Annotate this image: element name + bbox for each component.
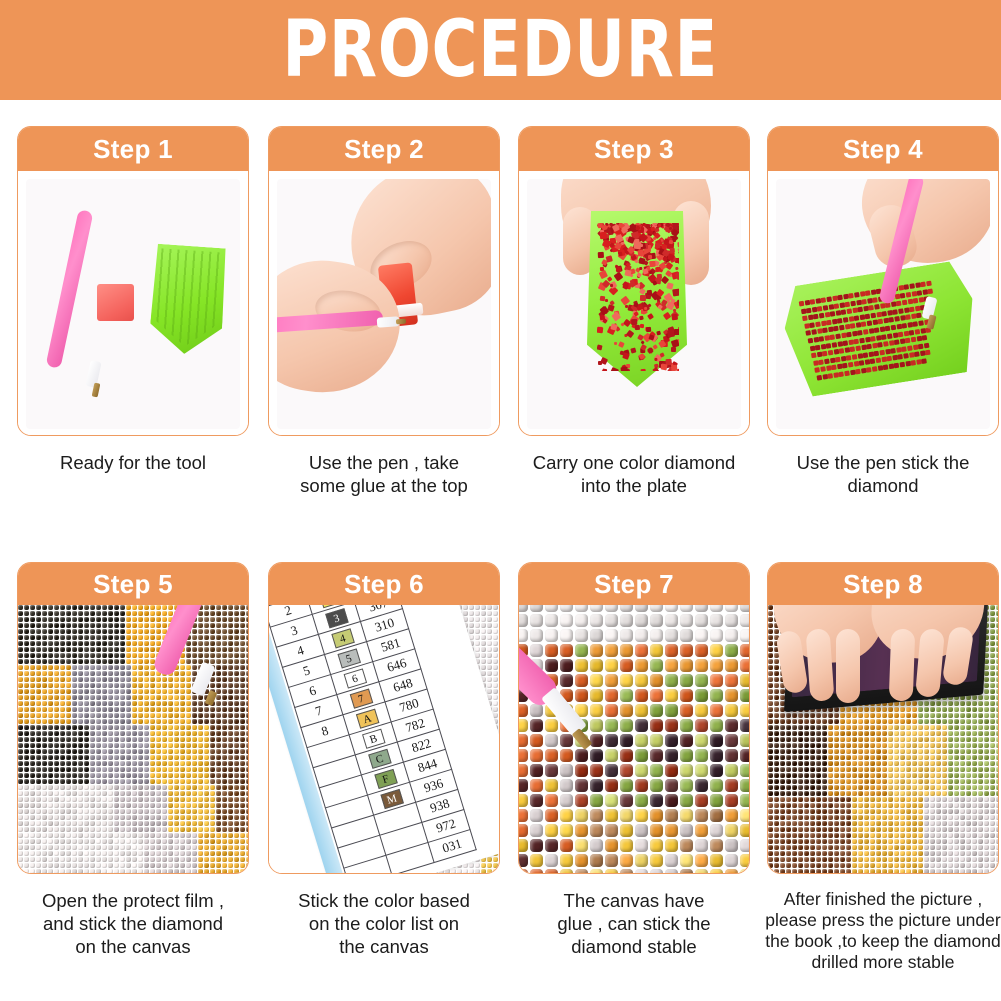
step-block-6: Step 6 SerialSymbolD — [268, 562, 500, 958]
finger-3-icon — [836, 629, 860, 703]
step-card-6: Step 6 SerialSymbolD — [268, 562, 500, 874]
step-caption-7: The canvas have glue , can stick the dia… — [518, 889, 750, 958]
steps-grid: Step 1 — [0, 100, 1001, 1001]
mosaic-canvas-icon — [18, 605, 248, 874]
step-title-3: Step 3 — [519, 127, 749, 171]
step-block-7: Step 7 The canvas have glue , can stick … — [518, 562, 750, 958]
step-caption-2: Use the pen , take some glue at the top — [268, 451, 500, 497]
step-block-5: Step 5 Open the protect film , and stick… — [17, 562, 249, 958]
finger-2-icon — [806, 628, 835, 701]
step-card-7: Step 7 — [518, 562, 750, 874]
green-tray-icon — [148, 244, 227, 357]
finger-4-icon — [889, 629, 915, 702]
green-tray-icon — [778, 259, 983, 399]
step-card-5: Step 5 — [17, 562, 249, 874]
step-card-4: Step 4 — [767, 126, 999, 436]
step-title-7: Step 7 — [519, 563, 749, 605]
step-block-8: Step 8 — [767, 562, 999, 973]
color-code-sheet: SerialSymbolDMC1122300333074431055581666… — [269, 605, 499, 874]
step-photo-3 — [519, 171, 749, 436]
step-title-2: Step 2 — [269, 127, 499, 171]
pink-pen-icon — [46, 209, 94, 369]
step-block-4: Step 4 — [767, 126, 999, 497]
step-card-3: Step 3 — [518, 126, 750, 436]
pen-metal-tip-icon — [396, 319, 406, 325]
scene-tools — [26, 179, 240, 429]
pink-wax-square-icon — [97, 284, 134, 321]
step-caption-8: After finished the picture , please pres… — [749, 889, 1001, 973]
step-photo-7 — [519, 605, 749, 874]
page-title: PROCEDURE — [283, 10, 719, 90]
step-caption-1: Ready for the tool — [17, 451, 249, 474]
step-photo-1 — [18, 171, 248, 436]
step-card-2: Step 2 — [268, 126, 500, 436]
step-caption-6: Stick the color based on the color list … — [268, 889, 500, 958]
step-caption-4: Use the pen stick the diamond — [767, 451, 999, 497]
scene-bead-rows — [519, 605, 749, 874]
steps-row-bottom: Step 5 Open the protect film , and stick… — [0, 562, 1001, 1001]
step-title-5: Step 5 — [18, 563, 248, 605]
step-block-2: Step 2 — [268, 126, 500, 497]
step-caption-3: Carry one color diamond into the plate — [518, 451, 750, 497]
step-photo-8 — [768, 605, 998, 874]
steps-row-top: Step 1 — [0, 126, 1001, 546]
step-photo-4 — [768, 171, 998, 436]
red-diamonds-pile-icon — [597, 223, 679, 371]
pen-metal-tip-icon — [92, 383, 101, 398]
procedure-infographic: PROCEDURE Step 1 — [0, 0, 1001, 1001]
step-block-3: Step 3 — [518, 126, 750, 497]
step-photo-6: SerialSymbolDMC1122300333074431055581666… — [269, 605, 499, 874]
step-title-4: Step 4 — [768, 127, 998, 171]
step-title-8: Step 8 — [768, 563, 998, 605]
diamond-beads-icon — [519, 605, 749, 874]
page-header-banner: PROCEDURE — [0, 0, 1001, 100]
step-title-1: Step 1 — [18, 127, 248, 171]
scene-pick-diamonds — [776, 179, 990, 429]
step-block-1: Step 1 — [17, 126, 249, 474]
scene-color-chart: SerialSymbolDMC1122300333074431055581666… — [269, 605, 499, 874]
step-card-1: Step 1 — [17, 126, 249, 436]
scene-tray-of-diamonds — [527, 179, 741, 429]
scene-sunflower-mosaic — [18, 605, 248, 874]
step-caption-5: Open the protect film , and stick the di… — [17, 889, 249, 958]
scene-glue-dip — [277, 179, 491, 429]
step-photo-5 — [18, 605, 248, 874]
step-title-6: Step 6 — [269, 563, 499, 605]
step-photo-2 — [269, 171, 499, 436]
step-card-8: Step 8 — [767, 562, 999, 874]
scene-press-book — [768, 605, 998, 874]
